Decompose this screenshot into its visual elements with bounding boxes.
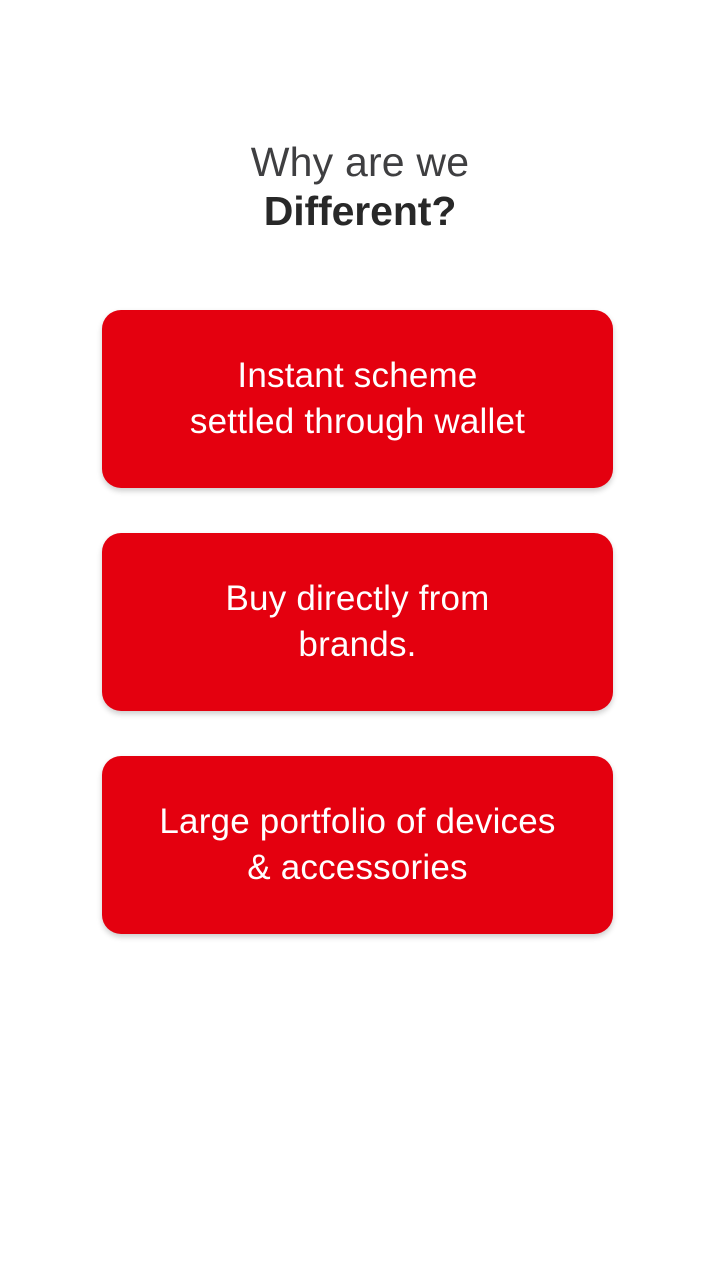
feature-card-instant-scheme[interactable]: Instant scheme settled through wallet xyxy=(102,310,613,488)
feature-card-buy-from-brands[interactable]: Buy directly from brands. xyxy=(102,533,613,711)
app-screen: Why are we Different? Instant scheme set… xyxy=(0,0,720,1280)
page-title-line-2: Different? xyxy=(0,187,720,236)
page-title: Why are we Different? xyxy=(0,138,720,236)
feature-card-label: Buy directly from brands. xyxy=(225,576,489,668)
page-title-line-1: Why are we xyxy=(0,138,720,187)
feature-card-list: Instant scheme settled through wallet Bu… xyxy=(102,310,613,934)
feature-card-label: Instant scheme settled through wallet xyxy=(190,353,525,445)
feature-card-large-portfolio[interactable]: Large portfolio of devices & accessories xyxy=(102,756,613,934)
feature-card-label: Large portfolio of devices & accessories xyxy=(159,799,555,891)
